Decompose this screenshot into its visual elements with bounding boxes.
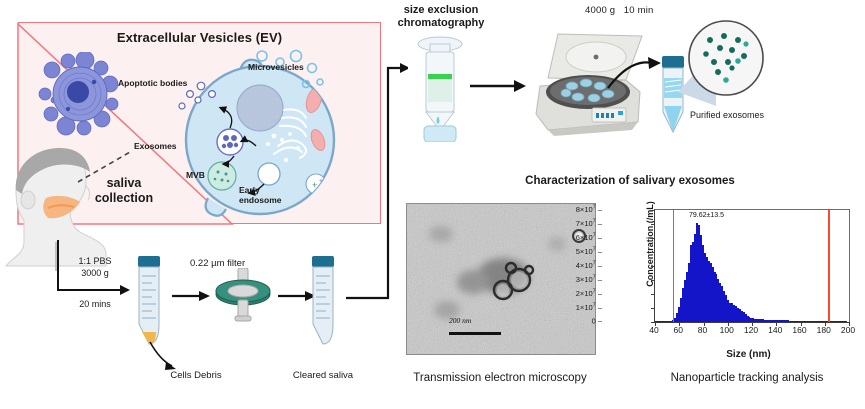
histogram-bar [845,321,847,322]
x-axis-tick-label: 140 [768,325,782,335]
x-axis-tick-label: 60 [674,325,683,335]
centrifuge-time: 10 min [624,5,654,16]
pbs-speed: 3000 g [64,267,126,279]
arrow-to-centrifuge [470,78,528,94]
ev-panel-title: Extracellular Vesicles (EV) [18,30,381,45]
pbs-duration-label: 20 mins [64,299,126,309]
saliva-collection-label: saliva collection [78,176,170,206]
y-axis-tick-label: 6×107 – [576,232,602,242]
y-axis-tick [651,266,655,267]
sec-column-illustration [412,36,468,142]
x-axis-tick-label: 200 [841,325,855,335]
y-axis-tick-label: 4×107 – [576,260,602,270]
y-axis-tick-label: 2×107 – [576,288,602,298]
y-axis-tick-label: 5×107 – [576,246,602,256]
size-marker-line [828,210,829,322]
y-axis-tick-label: 3×107 – [576,274,602,284]
arrow-to-sec-column [344,54,408,300]
mvb-label: MVB [186,170,205,180]
falcon-tube-pellet [130,252,168,352]
y-axis-tick [651,280,655,281]
purified-exosomes-magnifier [686,18,766,106]
y-axis-tick [651,294,655,295]
y-axis-tick [651,210,655,211]
size-marker-line [673,210,674,322]
y-axis-tick-label: 8×107 – [576,204,602,214]
tem-scale-label: 200 nm [449,316,471,325]
y-axis-tick-label: 1×107 – [576,302,602,312]
nta-chart: Concentration (/mL) 79.62±13.5 Size (nm)… [606,203,858,365]
y-axis-tick-label: 0 – [592,317,602,326]
arrow-to-filter [172,288,212,304]
syringe-filter-illustration [214,268,272,330]
tem-caption: Transmission electron microscopy [398,372,602,384]
falcon-tube-cleared [304,252,342,352]
purified-exosomes-label: Purified exosomes [688,110,766,121]
x-axis-tick-label: 120 [744,325,758,335]
y-axis-tick [651,252,655,253]
x-axis-tick-label: 80 [698,325,707,335]
size-exclusion-label: size exclusion chromatography [386,4,496,30]
apoptotic-body-illustration [38,52,124,138]
tem-micrograph: 200 nm [406,203,596,355]
pbs-ratio: 1:1 PBS [64,255,126,267]
tem-scale-bar [449,332,501,335]
pbs-centrifuge-label: 1:1 PBS 3000 g [64,255,126,279]
early-endosome-label: Early endosome [239,185,297,205]
y-axis-tick [651,238,655,239]
exosomes-label: Exosomes [134,141,177,151]
y-axis-tick-label: 7×107 – [576,218,602,228]
peak-size-annotation: 79.62±13.5 [689,212,724,219]
x-axis-tick-label: 160 [792,325,806,335]
x-axis-tick-label: 40 [649,325,658,335]
nta-caption: Nanoparticle tracking analysis [640,372,854,384]
y-axis-tick [651,224,655,225]
cleared-saliva-label: Cleared saliva [292,370,354,381]
y-axis-tick [651,308,655,309]
cells-debris-label: Cells Debris [168,370,224,381]
nta-plot-area: 79.62±13.5 [654,209,850,323]
x-axis-tick-label: 100 [720,325,734,335]
microvesicles-label: Microvesicles [248,62,304,72]
centrifuge-speed: 4000 g [585,5,615,16]
x-axis-tick-label: 180 [817,325,831,335]
nta-x-axis-label: Size (nm) [646,349,851,360]
centrifuge-settings-label: 4000 g 10 min [585,5,654,16]
characterization-title: Characterization of salivary exosomes [470,175,790,187]
